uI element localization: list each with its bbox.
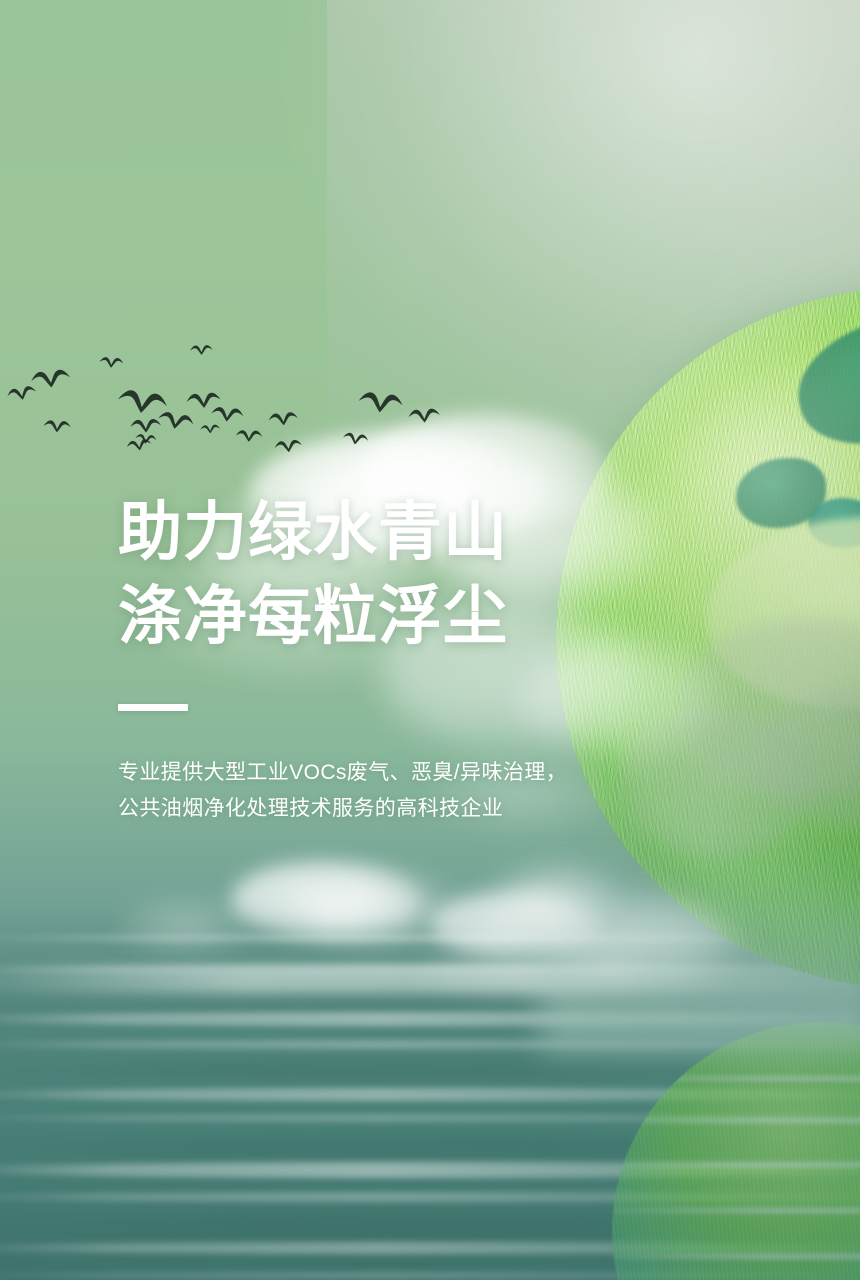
bird-icon: [130, 419, 161, 434]
bird-icon: [342, 432, 369, 446]
bird-icon: [157, 411, 195, 432]
bird-icon: [117, 389, 169, 417]
headline-line-1: 助力绿水青山: [118, 490, 718, 574]
bird-icon: [99, 357, 123, 369]
bird-icon: [200, 424, 220, 433]
bird-icon: [211, 406, 244, 423]
bird-icon: [190, 345, 213, 355]
subtitle-line-1: 专业提供大型工业VOCs废气、恶臭/异味治理，: [118, 755, 718, 791]
bird-icon: [43, 420, 71, 433]
bird-icon: [268, 412, 298, 427]
bird-icon: [358, 391, 404, 414]
headline-block: 助力绿水青山 涤净每粒浮尘 专业提供大型工业VOCs废气、恶臭/异味治理， 公共…: [118, 490, 718, 827]
bird-icon: [135, 434, 157, 445]
headline-line-2: 涤净每粒浮尘: [118, 574, 718, 658]
bird-icon: [236, 430, 263, 442]
bird-icon: [186, 392, 221, 409]
bird-icon: [274, 439, 302, 453]
title-divider: [118, 704, 188, 711]
bird-icon: [408, 408, 440, 423]
promo-banner: 助力绿水青山 涤净每粒浮尘 专业提供大型工业VOCs废气、恶臭/异味治理， 公共…: [0, 0, 860, 1280]
subtitle-line-2: 公共油烟净化处理技术服务的高科技企业: [118, 791, 718, 827]
bird-icon: [6, 385, 37, 402]
bird-icon: [30, 369, 71, 390]
